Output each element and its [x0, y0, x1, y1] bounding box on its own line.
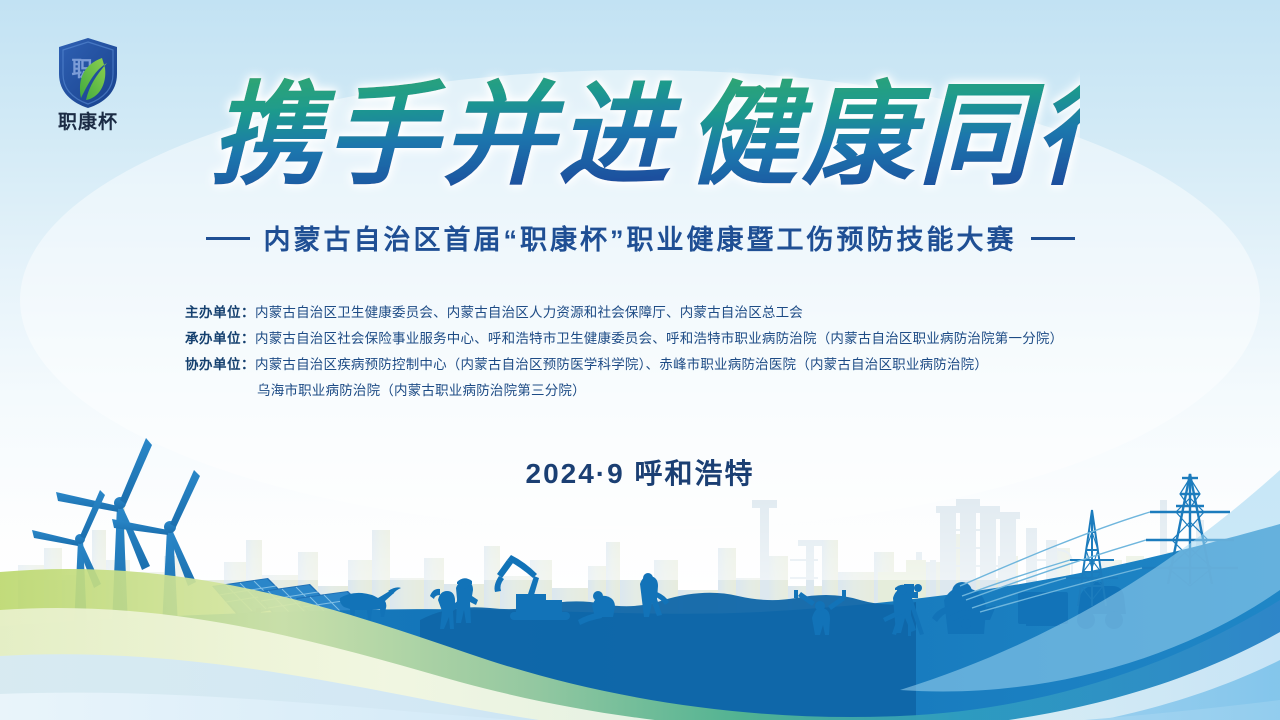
organizer-label: 主办单位： [185, 305, 255, 320]
poster-root: 职 职康杯 携手并进 健康同行 [0, 0, 1280, 720]
organizer-value: 内蒙古自治区卫生健康委员会、内蒙古自治区人力资源和社会保障厅、内蒙古自治区总工会 [255, 305, 803, 320]
organizer-value: 内蒙古自治区社会保险事业服务中心、呼和浩特市卫生健康委员会、呼和浩特市职业病防治… [255, 331, 1063, 346]
organizer-line: 协办单位：内蒙古自治区疾病预防控制中心（内蒙古自治区预防医学科学院）、赤峰市职业… [185, 352, 1195, 378]
logo-label: 职康杯 [46, 113, 130, 132]
organizer-line: 乌海市职业病防治院（内蒙古职业病防治院第三分院） [185, 378, 1195, 404]
organizer-value: 内蒙古自治区疾病预防控制中心（内蒙古自治区预防医学科学院）、赤峰市职业病防治医院… [255, 357, 988, 372]
organizer-label: 协办单位： [185, 357, 255, 372]
subtitle: 内蒙古自治区首届“职康杯”职业健康暨工伤预防技能大赛 [0, 218, 1280, 257]
subtitle-text: 内蒙古自治区首届“职康杯”职业健康暨工伤预防技能大赛 [264, 225, 1017, 255]
organizer-line: 承办单位：内蒙古自治区社会保险事业服务中心、呼和浩特市卫生健康委员会、呼和浩特市… [185, 326, 1195, 352]
organizers-block: 主办单位：内蒙古自治区卫生健康委员会、内蒙古自治区人力资源和社会保障厅、内蒙古自… [185, 300, 1195, 404]
brand-logo: 职 职康杯 [46, 36, 130, 136]
organizer-value: 乌海市职业病防治院（内蒙古职业病防治院第三分院） [257, 383, 586, 398]
shield-leaf-logo-icon: 职 [55, 36, 121, 110]
subtitle-rule-left [206, 237, 250, 240]
organizer-label: 承办单位： [185, 331, 255, 346]
subtitle-rule-right [1031, 237, 1075, 240]
organizer-line: 主办单位：内蒙古自治区卫生健康委员会、内蒙古自治区人力资源和社会保障厅、内蒙古自… [185, 300, 1195, 326]
date-location: 2024·9 呼和浩特 [0, 452, 1280, 492]
